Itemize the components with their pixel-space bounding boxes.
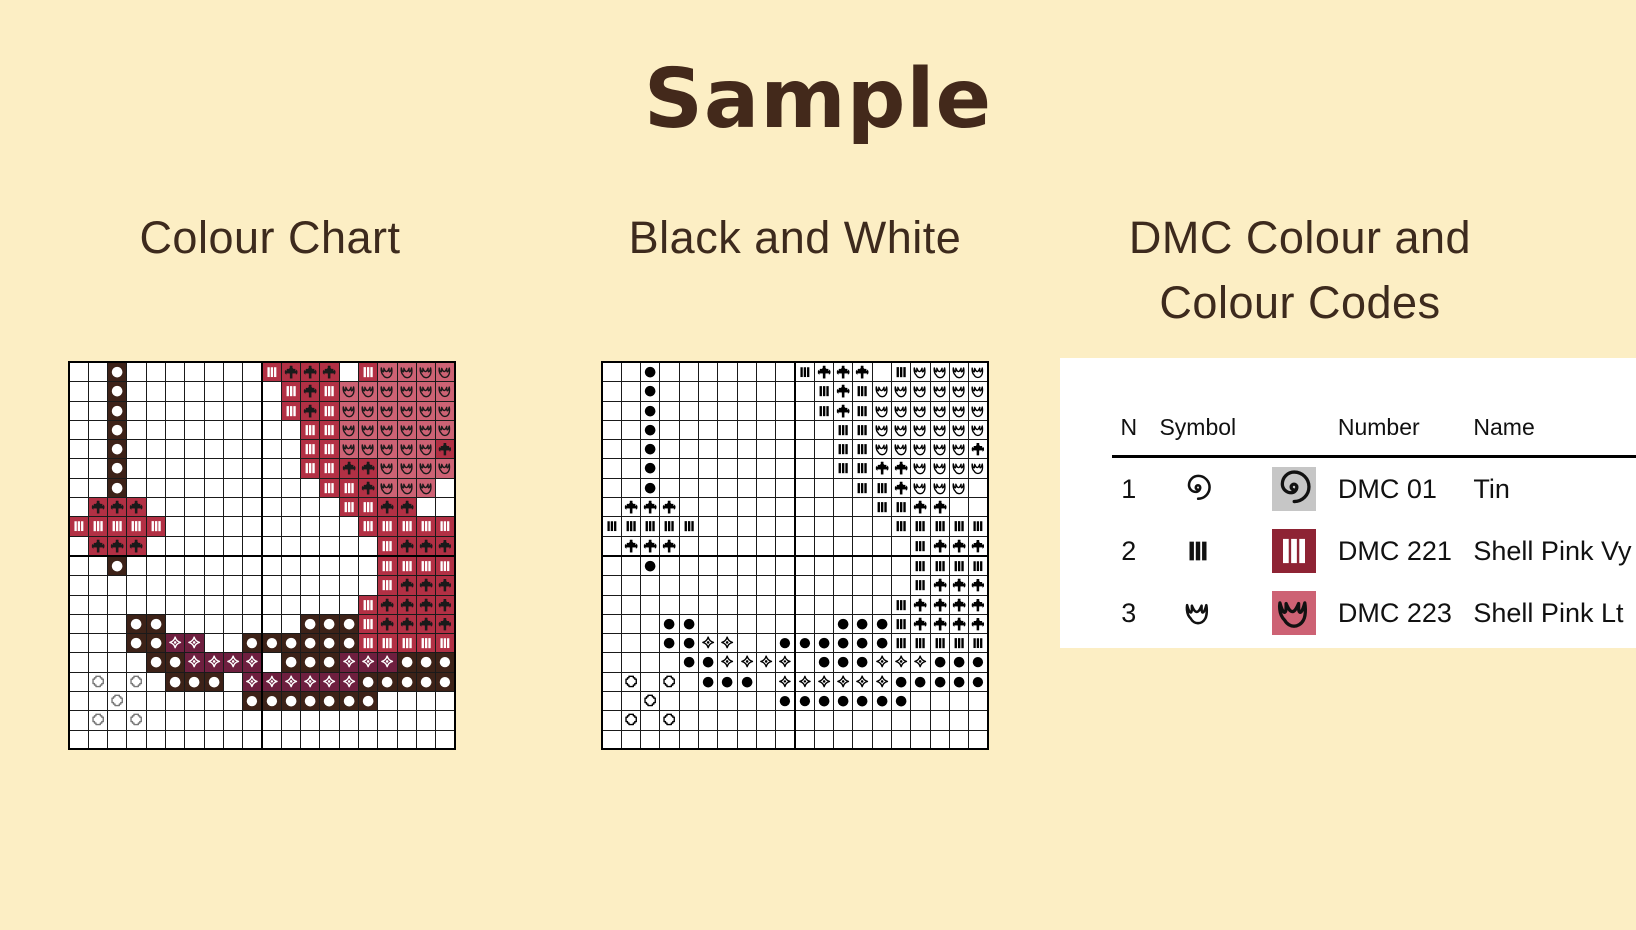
grid-cell-empty xyxy=(165,498,184,517)
grid-cell-tulip-icon xyxy=(339,401,358,420)
plus-icon xyxy=(301,402,319,420)
grid-cell-bars-icon xyxy=(621,517,640,536)
grid-cell-empty xyxy=(737,711,756,730)
filled-circle-icon xyxy=(301,634,319,652)
grid-cell-empty xyxy=(930,730,949,749)
grid-cell-empty xyxy=(127,556,146,576)
filled-circle-icon xyxy=(699,653,717,671)
bars-icon xyxy=(641,517,659,535)
plus-icon xyxy=(931,615,949,633)
grid-cell-empty xyxy=(127,478,146,497)
grid-cell-empty xyxy=(853,730,872,749)
grid-cell-empty xyxy=(301,595,320,614)
dmc-table-row: 3DMC 223Shell Pink Lt xyxy=(1112,582,1636,644)
grid-cell-empty xyxy=(69,614,88,633)
grid-cell-tulip-icon xyxy=(872,382,891,401)
grid-cell-empty xyxy=(165,478,184,497)
grid-cell-bars-icon xyxy=(853,478,872,497)
pattern-grid-row xyxy=(602,634,988,653)
grid-cell-empty xyxy=(756,595,775,614)
grid-cell-empty xyxy=(737,730,756,749)
bars-icon xyxy=(398,557,416,575)
grid-cell-plus-icon xyxy=(834,362,853,382)
grid-cell-empty xyxy=(127,420,146,439)
pattern-grid-row xyxy=(69,440,455,459)
grid-cell-tulip-icon xyxy=(436,459,455,478)
grid-cell-empty xyxy=(621,459,640,478)
grid-cell-tulip-icon xyxy=(436,362,455,382)
bars-icon xyxy=(815,382,833,400)
grid-cell-filled-circle-icon xyxy=(108,440,127,459)
grid-cell-empty xyxy=(146,556,165,576)
plus-icon xyxy=(398,615,416,633)
grid-cell-empty xyxy=(223,536,242,556)
pattern-grid xyxy=(601,361,989,750)
grid-cell-plus-icon xyxy=(911,614,930,633)
grid-cell-empty xyxy=(795,420,814,439)
grid-cell-empty xyxy=(641,595,660,614)
tulip-icon xyxy=(950,382,968,400)
dmc-row-index: 1 xyxy=(1112,457,1146,521)
grid-cell-empty xyxy=(127,692,146,711)
grid-cell-filled-circle-icon xyxy=(872,692,891,711)
grid-cell-empty xyxy=(718,459,737,478)
plus-icon xyxy=(853,363,871,381)
grid-cell-empty xyxy=(339,517,358,536)
grid-cell-empty xyxy=(436,478,455,497)
grid-cell-empty xyxy=(718,595,737,614)
dmc-colour-table-panel: N Symbol Number Name 1DMC 01Tin2DMC 221S… xyxy=(1060,358,1636,648)
grid-cell-tulip-icon xyxy=(911,420,930,439)
cross-outline-icon xyxy=(660,673,678,691)
filled-circle-icon xyxy=(815,692,833,710)
grid-cell-filled-circle-icon xyxy=(930,653,949,672)
grid-cell-bars-icon xyxy=(969,517,988,536)
grid-cell-diamond-dot-icon xyxy=(718,634,737,653)
grid-cell-empty xyxy=(320,498,339,517)
dmc-row-symbol xyxy=(1146,520,1251,582)
grid-cell-empty xyxy=(718,517,737,536)
dmc-row-swatch xyxy=(1250,582,1338,644)
bars-icon xyxy=(108,517,126,535)
grid-cell-plus-icon xyxy=(930,576,949,595)
grid-cell-empty xyxy=(243,498,262,517)
grid-cell-empty xyxy=(185,576,204,595)
grid-cell-plus-icon xyxy=(436,440,455,459)
grid-cell-bars-icon xyxy=(378,536,397,556)
bars-icon xyxy=(834,459,852,477)
grid-cell-filled-circle-icon xyxy=(698,653,717,672)
bars-icon xyxy=(892,615,910,633)
grid-cell-empty xyxy=(621,692,640,711)
grid-cell-plus-icon xyxy=(930,498,949,517)
filled-circle-icon xyxy=(320,615,338,633)
grid-cell-empty xyxy=(698,382,717,401)
grid-cell-filled-circle-icon xyxy=(737,672,756,691)
plus-icon xyxy=(892,459,910,477)
grid-cell-empty xyxy=(204,576,223,595)
grid-cell-empty xyxy=(69,420,88,439)
grid-cell-empty xyxy=(185,536,204,556)
grid-cell-empty xyxy=(795,711,814,730)
tulip-icon xyxy=(969,363,987,381)
tulip-icon xyxy=(892,402,910,420)
grid-cell-tulip-icon xyxy=(397,440,416,459)
plus-icon xyxy=(378,498,396,516)
grid-cell-diamond-dot-icon xyxy=(718,653,737,672)
grid-cell-filled-circle-icon xyxy=(301,692,320,711)
diamond-dot-icon xyxy=(359,653,377,671)
grid-cell-filled-circle-icon xyxy=(281,634,300,653)
pattern-grid-row xyxy=(69,576,455,595)
grid-cell-empty xyxy=(69,653,88,672)
grid-cell-empty xyxy=(679,362,698,382)
grid-cell-empty xyxy=(660,692,679,711)
grid-cell-tulip-icon xyxy=(930,401,949,420)
tulip-icon xyxy=(340,440,358,458)
grid-cell-bars-icon xyxy=(641,517,660,536)
grid-cell-empty xyxy=(621,614,640,633)
plus-icon xyxy=(436,596,454,614)
grid-cell-empty xyxy=(262,595,281,614)
grid-cell-empty xyxy=(339,362,358,382)
grid-cell-bars-icon xyxy=(416,517,435,536)
grid-cell-plus-icon xyxy=(949,614,968,633)
grid-cell-empty xyxy=(679,692,698,711)
diamond-dot-icon xyxy=(892,653,910,671)
grid-cell-empty xyxy=(223,517,242,536)
grid-cell-plus-icon xyxy=(339,459,358,478)
grid-cell-empty xyxy=(718,711,737,730)
bars-icon xyxy=(853,459,871,477)
grid-cell-bars-icon xyxy=(891,362,910,382)
bars-icon xyxy=(892,517,910,535)
grid-cell-tulip-icon xyxy=(969,362,988,382)
grid-cell-empty xyxy=(127,576,146,595)
grid-cell-diamond-dot-icon xyxy=(756,653,775,672)
bars-icon xyxy=(796,363,814,381)
grid-cell-empty xyxy=(621,401,640,420)
grid-cell-empty xyxy=(814,595,833,614)
pattern-grid-row xyxy=(69,498,455,517)
grid-cell-empty xyxy=(69,595,88,614)
grid-cell-bars-icon xyxy=(358,517,377,536)
tulip-icon xyxy=(417,402,435,420)
diamond-dot-icon xyxy=(873,653,891,671)
grid-cell-empty xyxy=(69,498,88,517)
plus-icon xyxy=(398,498,416,516)
bars-icon xyxy=(911,517,929,535)
tulip-icon xyxy=(417,440,435,458)
filled-circle-icon xyxy=(320,653,338,671)
grid-cell-empty xyxy=(834,711,853,730)
grid-cell-empty xyxy=(69,576,88,595)
grid-cell-empty xyxy=(660,420,679,439)
bars-icon xyxy=(892,363,910,381)
grid-cell-empty xyxy=(243,556,262,576)
bars-icon xyxy=(301,440,319,458)
grid-cell-empty xyxy=(127,401,146,420)
grid-cell-plus-icon xyxy=(891,478,910,497)
dmc-row-index: 2 xyxy=(1112,520,1146,582)
plus-icon xyxy=(950,596,968,614)
diamond-dot-icon xyxy=(853,673,871,691)
bars-icon xyxy=(950,634,968,652)
grid-cell-tulip-icon xyxy=(969,401,988,420)
grid-cell-empty xyxy=(621,362,640,382)
grid-cell-empty xyxy=(108,634,127,653)
bars-icon xyxy=(1181,534,1215,568)
plus-icon xyxy=(969,596,987,614)
grid-cell-empty xyxy=(834,595,853,614)
bars-icon xyxy=(378,634,396,652)
grid-cell-empty xyxy=(127,382,146,401)
grid-cell-bars-icon xyxy=(891,595,910,614)
colour-swatch xyxy=(1272,591,1316,635)
grid-cell-bars-icon xyxy=(872,498,891,517)
grid-cell-empty xyxy=(698,362,717,382)
bars-icon xyxy=(89,517,107,535)
grid-cell-empty xyxy=(795,401,814,420)
grid-cell-empty xyxy=(698,517,717,536)
dmc-header-number: Number xyxy=(1338,404,1474,457)
grid-cell-empty xyxy=(756,459,775,478)
filled-circle-icon xyxy=(359,692,377,710)
pattern-grid-row xyxy=(602,653,988,672)
grid-cell-empty xyxy=(795,614,814,633)
tulip-icon xyxy=(873,440,891,458)
grid-cell-empty xyxy=(185,614,204,633)
grid-cell-empty xyxy=(718,401,737,420)
grid-cell-empty xyxy=(204,420,223,439)
grid-cell-filled-circle-icon xyxy=(853,692,872,711)
grid-cell-empty xyxy=(660,576,679,595)
filled-circle-icon xyxy=(127,634,145,652)
grid-cell-empty xyxy=(776,478,795,497)
grid-cell-filled-circle-icon xyxy=(814,692,833,711)
grid-cell-empty xyxy=(146,478,165,497)
grid-cell-empty xyxy=(165,382,184,401)
grid-cell-empty xyxy=(698,420,717,439)
tulip-icon xyxy=(969,382,987,400)
cross-outline-icon xyxy=(108,692,126,710)
grid-cell-empty xyxy=(756,730,775,749)
grid-cell-empty xyxy=(737,576,756,595)
grid-cell-plus-icon xyxy=(436,576,455,595)
dmc-row-symbol xyxy=(1146,582,1251,644)
grid-cell-empty xyxy=(737,401,756,420)
grid-cell-plus-icon xyxy=(969,614,988,633)
filled-circle-icon xyxy=(641,557,659,575)
grid-cell-tulip-icon xyxy=(358,440,377,459)
grid-cell-empty xyxy=(756,634,775,653)
grid-cell-filled-circle-icon xyxy=(814,634,833,653)
grid-cell-empty xyxy=(776,498,795,517)
grid-cell-empty xyxy=(416,730,435,749)
grid-cell-plus-icon xyxy=(969,440,988,459)
grid-cell-tulip-icon xyxy=(949,478,968,497)
grid-cell-empty xyxy=(834,556,853,576)
bars-icon xyxy=(320,421,338,439)
grid-cell-filled-circle-icon xyxy=(853,614,872,633)
grid-cell-tulip-icon xyxy=(339,382,358,401)
grid-cell-empty xyxy=(243,420,262,439)
grid-cell-empty xyxy=(108,595,127,614)
filled-circle-icon xyxy=(108,557,126,575)
grid-cell-bars-icon xyxy=(911,634,930,653)
grid-cell-cross-outline-icon xyxy=(108,692,127,711)
grid-cell-bars-icon xyxy=(301,459,320,478)
grid-cell-empty xyxy=(660,478,679,497)
bars-icon xyxy=(340,498,358,516)
grid-cell-bars-icon xyxy=(378,517,397,536)
filled-circle-icon xyxy=(738,673,756,691)
grid-cell-filled-circle-icon xyxy=(108,382,127,401)
diamond-dot-icon xyxy=(757,653,775,671)
grid-cell-empty xyxy=(185,556,204,576)
bars-icon xyxy=(892,596,910,614)
grid-cell-empty xyxy=(223,634,242,653)
grid-cell-filled-circle-icon xyxy=(108,459,127,478)
pattern-grid-row xyxy=(69,382,455,401)
colour-swatch xyxy=(1272,529,1316,573)
grid-cell-plus-icon xyxy=(397,614,416,633)
grid-cell-empty xyxy=(378,730,397,749)
grid-cell-empty xyxy=(301,478,320,497)
grid-cell-empty xyxy=(621,420,640,439)
colour-chart-title: Colour Chart xyxy=(30,205,510,270)
grid-cell-tulip-icon xyxy=(930,478,949,497)
grid-cell-empty xyxy=(949,498,968,517)
grid-cell-tulip-icon xyxy=(891,440,910,459)
grid-cell-empty xyxy=(641,672,660,691)
grid-cell-tulip-icon xyxy=(911,440,930,459)
grid-cell-empty xyxy=(602,576,621,595)
diamond-dot-icon xyxy=(185,653,203,671)
dmc-row-swatch xyxy=(1250,520,1338,582)
grid-cell-tulip-icon xyxy=(872,420,891,439)
filled-circle-icon xyxy=(398,653,416,671)
tulip-icon xyxy=(931,479,949,497)
grid-cell-empty xyxy=(872,711,891,730)
grid-cell-empty xyxy=(204,517,223,536)
grid-cell-plus-icon xyxy=(969,576,988,595)
grid-cell-empty xyxy=(834,576,853,595)
grid-cell-empty xyxy=(223,595,242,614)
grid-cell-empty xyxy=(108,730,127,749)
tulip-icon xyxy=(359,382,377,400)
grid-cell-empty xyxy=(223,576,242,595)
grid-cell-empty xyxy=(911,730,930,749)
pattern-grid-row xyxy=(69,672,455,691)
filled-circle-icon xyxy=(320,692,338,710)
diamond-dot-icon xyxy=(738,653,756,671)
colour-chart-grid xyxy=(68,361,456,750)
tulip-icon xyxy=(436,382,454,400)
grid-cell-empty xyxy=(776,382,795,401)
dmc-header-name: Name xyxy=(1473,404,1636,457)
grid-cell-empty xyxy=(281,478,300,497)
grid-cell-empty xyxy=(108,711,127,730)
bars-icon xyxy=(359,596,377,614)
pattern-grid-row xyxy=(602,517,988,536)
bars-icon xyxy=(378,576,396,594)
grid-cell-empty xyxy=(146,576,165,595)
grid-cell-tulip-icon xyxy=(397,478,416,497)
tulip-icon xyxy=(359,440,377,458)
grid-cell-empty xyxy=(204,382,223,401)
grid-cell-empty xyxy=(262,478,281,497)
grid-cell-empty xyxy=(698,692,717,711)
grid-cell-bars-icon xyxy=(834,440,853,459)
grid-cell-empty xyxy=(872,517,891,536)
bars-icon xyxy=(282,402,300,420)
grid-cell-empty xyxy=(204,614,223,633)
grid-cell-filled-circle-icon xyxy=(165,672,184,691)
grid-cell-plus-icon xyxy=(127,498,146,517)
grid-cell-empty xyxy=(602,401,621,420)
tulip-icon xyxy=(931,440,949,458)
grid-cell-empty xyxy=(185,595,204,614)
grid-cell-bars-icon xyxy=(891,498,910,517)
grid-cell-empty xyxy=(660,730,679,749)
grid-cell-empty xyxy=(679,536,698,556)
tulip-icon xyxy=(378,402,396,420)
grid-cell-plus-icon xyxy=(834,382,853,401)
grid-cell-empty xyxy=(165,614,184,633)
filled-circle-icon xyxy=(263,692,281,710)
plus-icon xyxy=(969,576,987,594)
pattern-grid-row xyxy=(602,362,988,382)
grid-cell-plus-icon xyxy=(88,536,107,556)
grid-cell-empty xyxy=(949,692,968,711)
dmc-codes-title-line: Colour Codes xyxy=(1075,270,1525,335)
tulip-icon xyxy=(873,421,891,439)
grid-cell-empty xyxy=(185,498,204,517)
grid-cell-empty xyxy=(185,711,204,730)
grid-cell-empty xyxy=(641,614,660,633)
grid-cell-empty xyxy=(397,692,416,711)
grid-cell-bars-icon xyxy=(397,634,416,653)
grid-cell-plus-icon xyxy=(378,595,397,614)
plus-icon xyxy=(660,498,678,516)
grid-cell-empty xyxy=(204,692,223,711)
grid-cell-empty xyxy=(679,420,698,439)
grid-cell-empty xyxy=(718,576,737,595)
pattern-grid-row xyxy=(602,536,988,556)
grid-cell-empty xyxy=(891,711,910,730)
filled-circle-icon xyxy=(873,692,891,710)
grid-cell-empty xyxy=(930,711,949,730)
bars-icon xyxy=(815,402,833,420)
grid-cell-bars-icon xyxy=(320,478,339,497)
grid-cell-empty xyxy=(416,711,435,730)
bars-icon xyxy=(911,576,929,594)
grid-cell-empty xyxy=(204,401,223,420)
grid-cell-cross-outline-icon xyxy=(641,692,660,711)
grid-cell-tulip-icon xyxy=(378,459,397,478)
filled-circle-icon xyxy=(301,615,319,633)
grid-cell-diamond-dot-icon xyxy=(243,653,262,672)
grid-cell-empty xyxy=(776,362,795,382)
grid-cell-empty xyxy=(834,517,853,536)
grid-cell-empty xyxy=(88,382,107,401)
grid-cell-empty xyxy=(776,614,795,633)
bars-icon xyxy=(853,479,871,497)
grid-cell-empty xyxy=(602,730,621,749)
grid-cell-empty xyxy=(243,576,262,595)
grid-cell-filled-circle-icon xyxy=(416,672,435,691)
